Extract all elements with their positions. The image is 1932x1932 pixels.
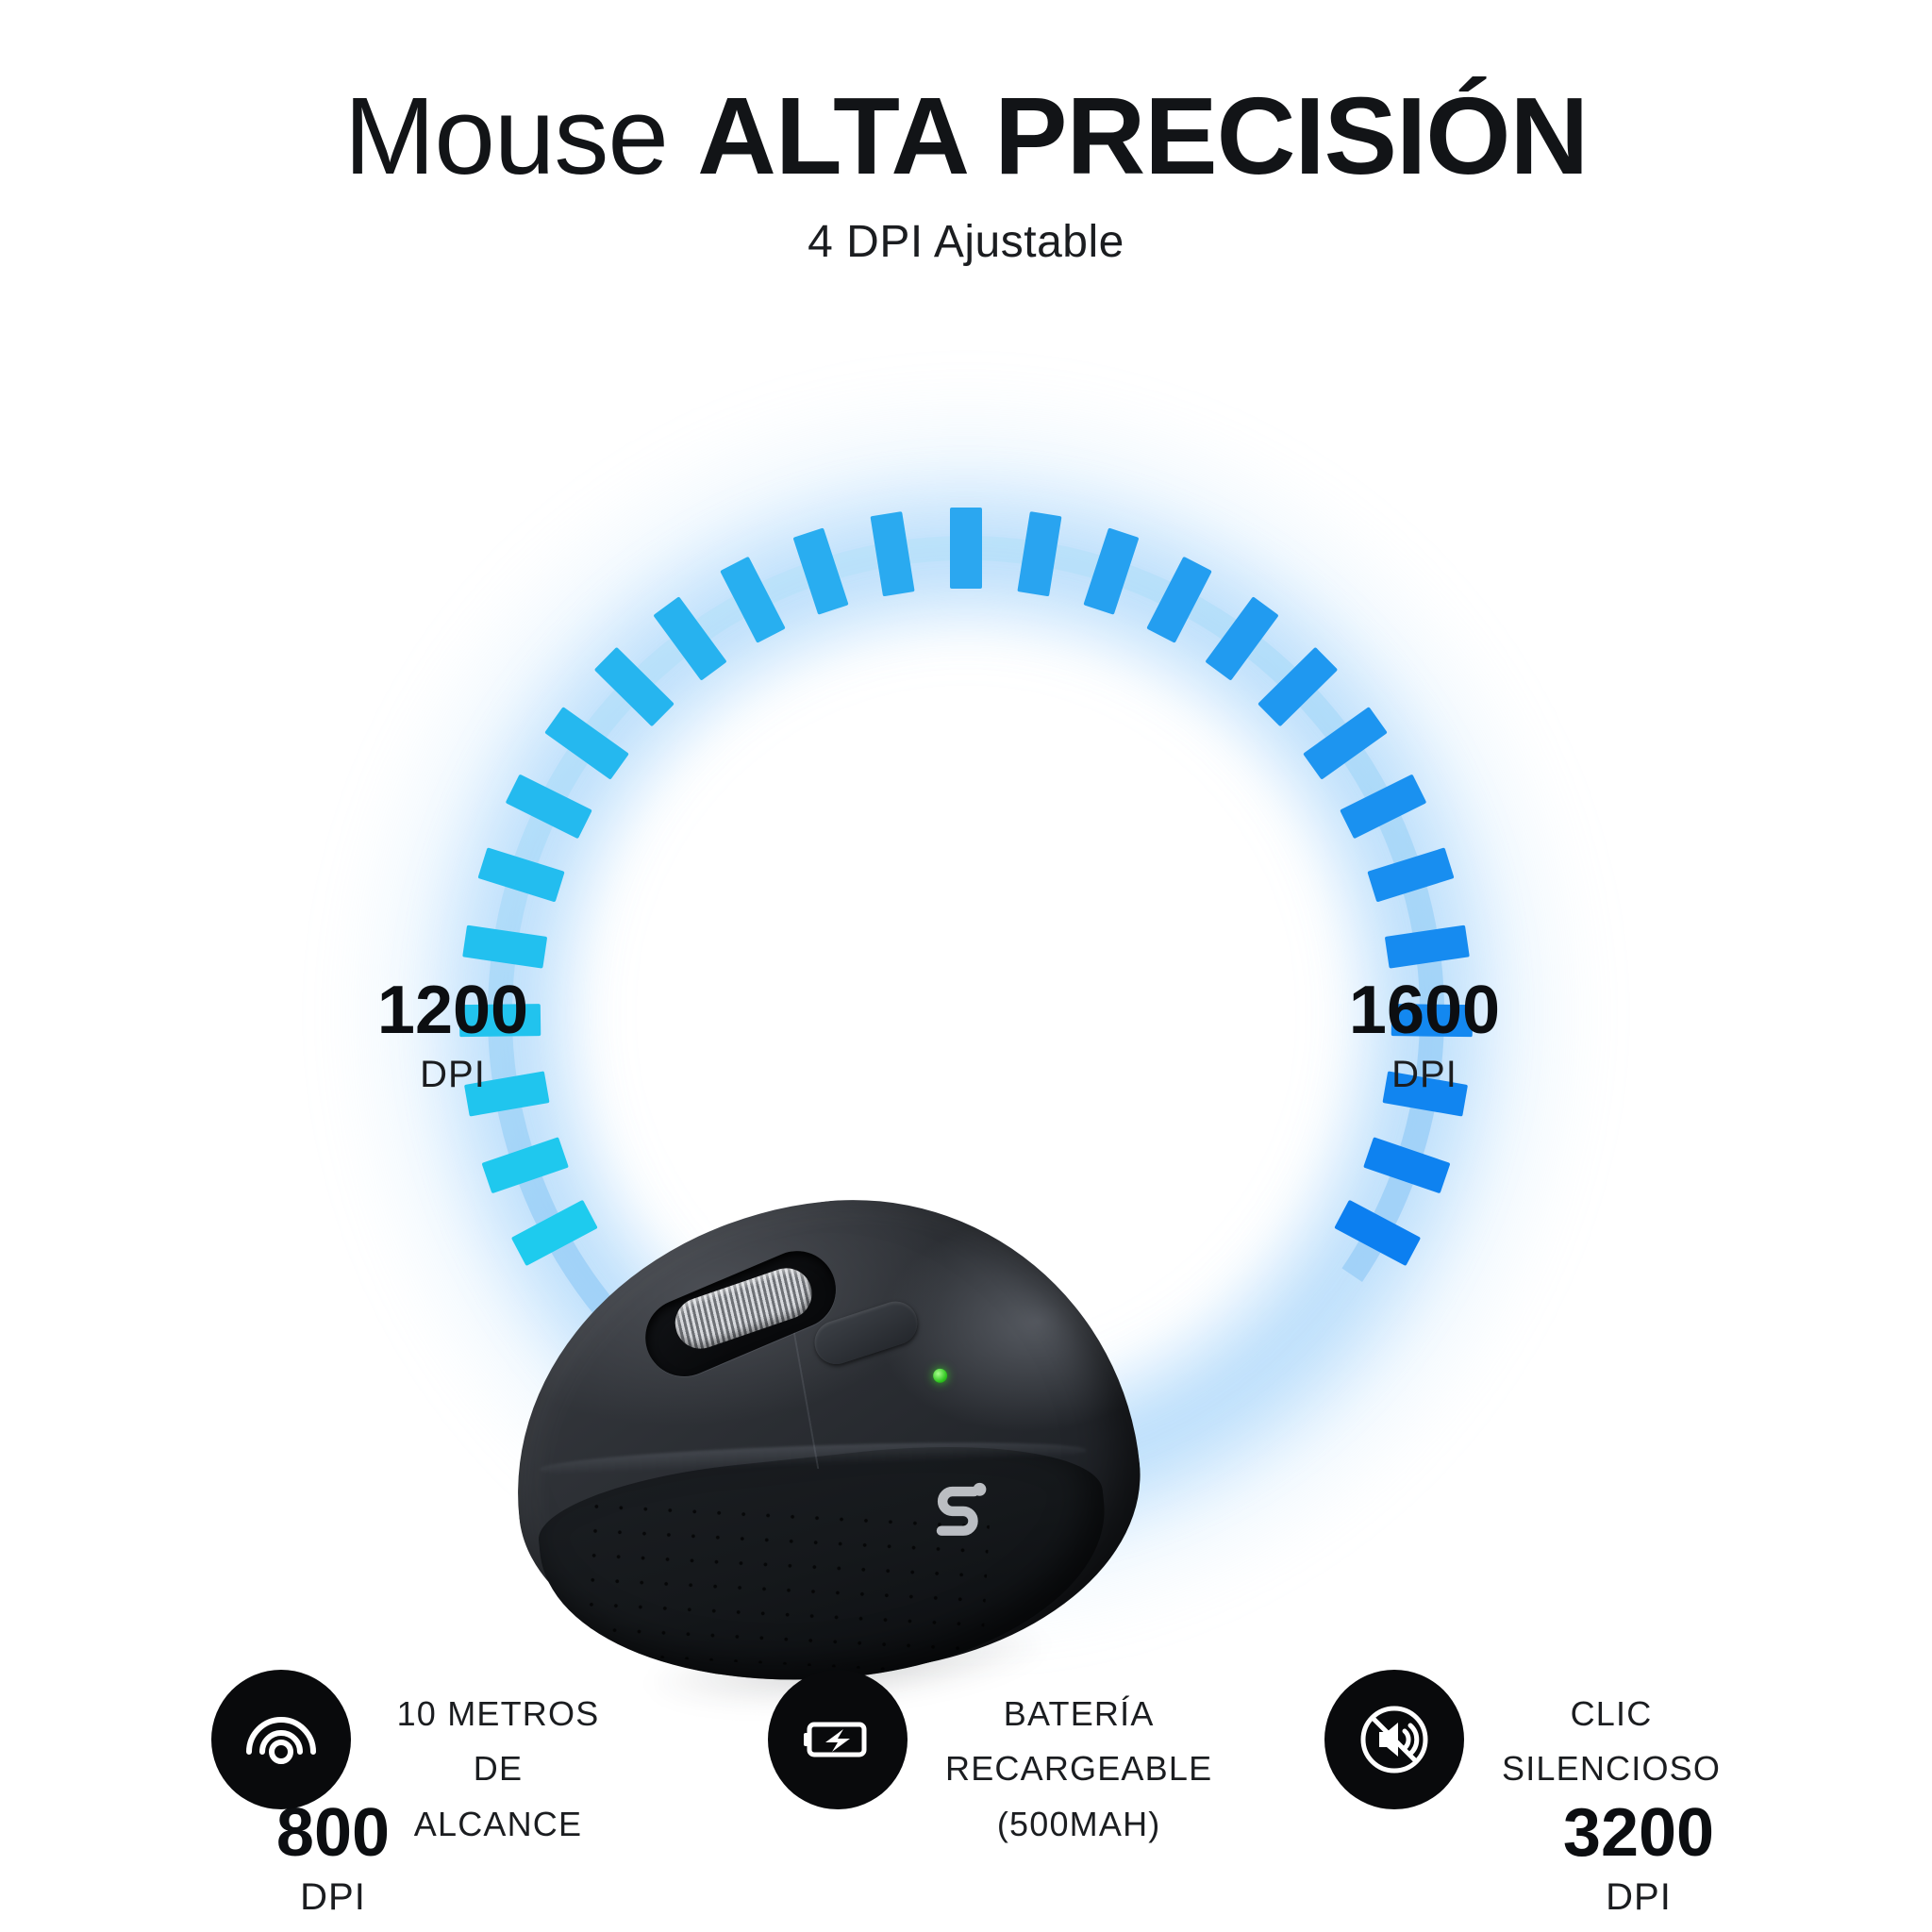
feature-silent-click: CLIC SILENCIOSO: [1324, 1670, 1721, 1809]
header: Mouse ALTA PRECISIÓN 4 DPI Ajustable: [0, 0, 1932, 268]
feature-line-2: SILENCIOSO: [1502, 1749, 1721, 1788]
feature-range: 10 METROS DE ALCANCE: [211, 1670, 608, 1852]
feature-silent-text: CLIC SILENCIOSO: [1502, 1670, 1721, 1797]
feature-line-2: ALCANCE: [414, 1805, 582, 1843]
dpi-label-1600: 1600 DPI: [1292, 976, 1557, 1093]
feature-line-1: BATERÍA: [1004, 1694, 1155, 1733]
mute-speaker-badge: [1324, 1670, 1464, 1809]
feature-line-1: 10 METROS DE: [397, 1694, 600, 1788]
page-title-light: Mouse: [344, 75, 697, 197]
dpi-unit: DPI: [321, 1056, 585, 1093]
mouse-product-image: [490, 1172, 1161, 1734]
dpi-dash-tick: [950, 508, 982, 589]
page-title: Mouse ALTA PRECISIÓN: [0, 77, 1932, 195]
mute-speaker-icon: [1351, 1696, 1438, 1783]
dpi-label-1200: 1200 DPI: [321, 976, 585, 1093]
feature-battery-text: BATERÍA RECARGEABLE (500MAH): [945, 1670, 1212, 1852]
page-subtitle: 4 DPI Ajustable: [0, 216, 1932, 268]
feature-list: 10 METROS DE ALCANCE BATERÍA RECARGEABLE…: [0, 1670, 1932, 1906]
feature-line-3: (500MAH): [997, 1805, 1161, 1843]
wireless-signal-icon: [241, 1700, 321, 1779]
feature-range-text: 10 METROS DE ALCANCE: [389, 1670, 608, 1852]
wireless-signal-badge: [211, 1670, 351, 1809]
page-title-bold: ALTA PRECISIÓN: [697, 75, 1588, 197]
dpi-unit: DPI: [1292, 1056, 1557, 1093]
battery-charging-badge: [768, 1670, 908, 1809]
dpi-value: 1200: [321, 976, 585, 1044]
dpi-value: 1600: [1292, 976, 1557, 1044]
battery-charging-icon: [796, 1698, 879, 1781]
dpi-dial-stage: 1200 DPI 1600 DPI 800 DPI 3200 DPI: [0, 443, 1932, 1585]
feature-battery: BATERÍA RECARGEABLE (500MAH): [768, 1670, 1164, 1852]
feature-line-1: CLIC: [1571, 1694, 1653, 1733]
feature-line-2: RECARGEABLE: [945, 1749, 1212, 1788]
brand-logo-icon: [926, 1472, 996, 1541]
